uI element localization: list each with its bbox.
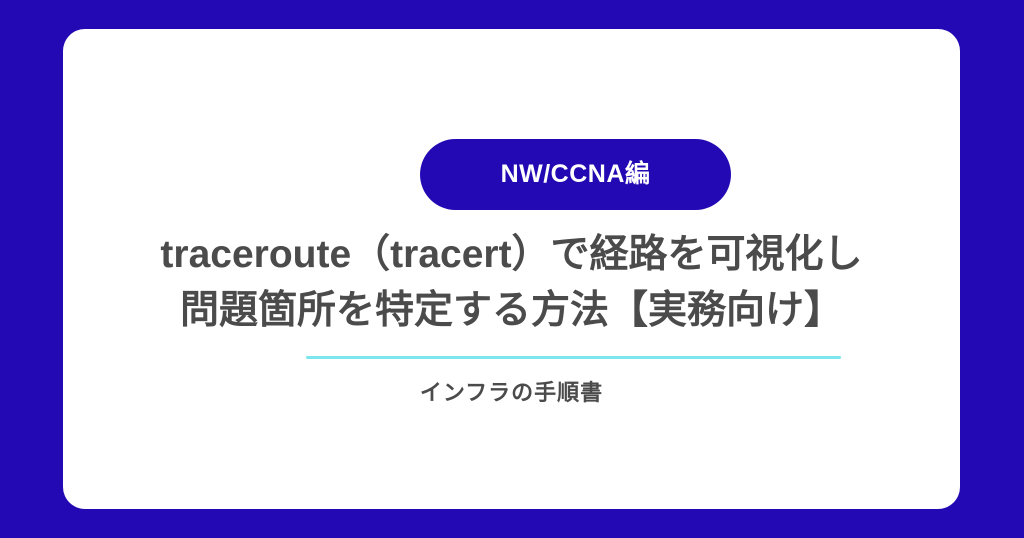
eyecatch-canvas: NW/CCNA編 traceroute（tracert）で経路を可視化し 問題箇… [0,0,1024,538]
page-title-line-1: traceroute（tracert）で経路を可視化し [83,227,940,283]
site-name: インフラの手順書 [63,377,960,409]
site-name-label: インフラの手順書 [420,380,603,405]
category-badge-label: NW/CCNA編 [501,162,651,187]
page-title-line-2: 問題箇所を特定する方法【実務向け】 [83,283,940,339]
title-divider [306,356,841,359]
category-badge[interactable]: NW/CCNA編 [420,139,731,210]
content-card: NW/CCNA編 traceroute（tracert）で経路を可視化し 問題箇… [63,29,960,509]
page-title: traceroute（tracert）で経路を可視化し 問題箇所を特定する方法【… [63,227,960,339]
